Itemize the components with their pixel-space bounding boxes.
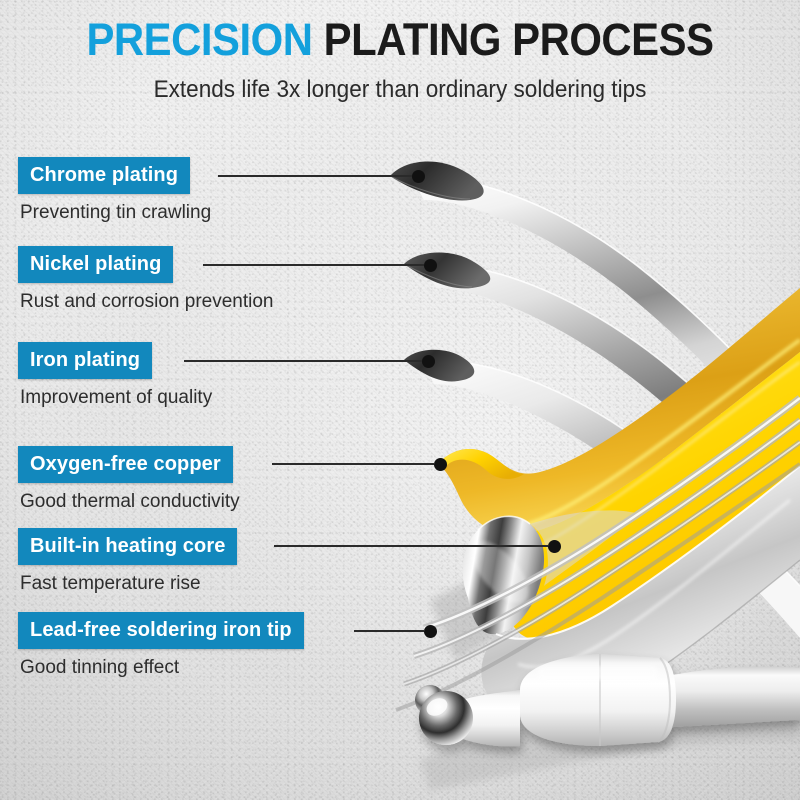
leader-line-oxygen-free-copper xyxy=(272,463,434,465)
callout-lead-free-soldering-iron-tip: Lead-free soldering iron tipGood tinning… xyxy=(18,612,304,679)
callout-label-oxygen-free-copper[interactable]: Oxygen-free copper xyxy=(18,446,233,483)
page-subtitle: Extends life 3x longer than ordinary sol… xyxy=(24,75,776,105)
callout-built-in-heating-core: Built-in heating coreFast temperature ri… xyxy=(18,528,237,595)
leader-line-lead-free-soldering-iron-tip xyxy=(354,630,424,632)
leader-dot-oxygen-free-copper xyxy=(434,458,447,471)
callout-description-built-in-heating-core: Fast temperature rise xyxy=(20,572,237,595)
page-title-rest: PLATING PROCESS xyxy=(312,14,713,65)
infographic-poster: PRECISION PLATING PROCESS Extends life 3… xyxy=(0,0,800,800)
leader-line-built-in-heating-core xyxy=(274,545,548,547)
leader-dot-built-in-heating-core xyxy=(548,540,561,553)
callout-chrome-plating: Chrome platingPreventing tin crawling xyxy=(18,157,211,224)
page-title: PRECISION PLATING PROCESS xyxy=(28,14,772,66)
leader-line-chrome-plating xyxy=(218,175,412,177)
leader-dot-lead-free-soldering-iron-tip xyxy=(424,625,437,638)
callout-label-built-in-heating-core[interactable]: Built-in heating core xyxy=(18,528,237,565)
page-title-highlight: PRECISION xyxy=(86,14,312,65)
callout-description-oxygen-free-copper: Good thermal conductivity xyxy=(20,490,240,513)
callout-label-chrome-plating[interactable]: Chrome plating xyxy=(18,157,190,194)
callout-nickel-plating: Nickel platingRust and corrosion prevent… xyxy=(18,246,273,313)
leader-dot-chrome-plating xyxy=(412,170,425,183)
callout-label-iron-plating[interactable]: Iron plating xyxy=(18,342,152,379)
callout-description-iron-plating: Improvement of quality xyxy=(20,386,212,409)
header: PRECISION PLATING PROCESS Extends life 3… xyxy=(0,14,800,105)
callout-label-nickel-plating[interactable]: Nickel plating xyxy=(18,246,173,283)
leader-line-iron-plating xyxy=(184,360,422,362)
callout-description-nickel-plating: Rust and corrosion prevention xyxy=(20,290,273,313)
leader-dot-iron-plating xyxy=(422,355,435,368)
callout-description-lead-free-soldering-iron-tip: Good tinning effect xyxy=(20,656,304,679)
callout-iron-plating: Iron platingImprovement of quality xyxy=(18,342,212,409)
callout-description-chrome-plating: Preventing tin crawling xyxy=(20,201,211,224)
leader-dot-nickel-plating xyxy=(424,259,437,272)
callout-label-lead-free-soldering-iron-tip[interactable]: Lead-free soldering iron tip xyxy=(18,612,304,649)
callout-oxygen-free-copper: Oxygen-free copperGood thermal conductiv… xyxy=(18,446,240,513)
chrome-ball-tip xyxy=(419,691,473,745)
